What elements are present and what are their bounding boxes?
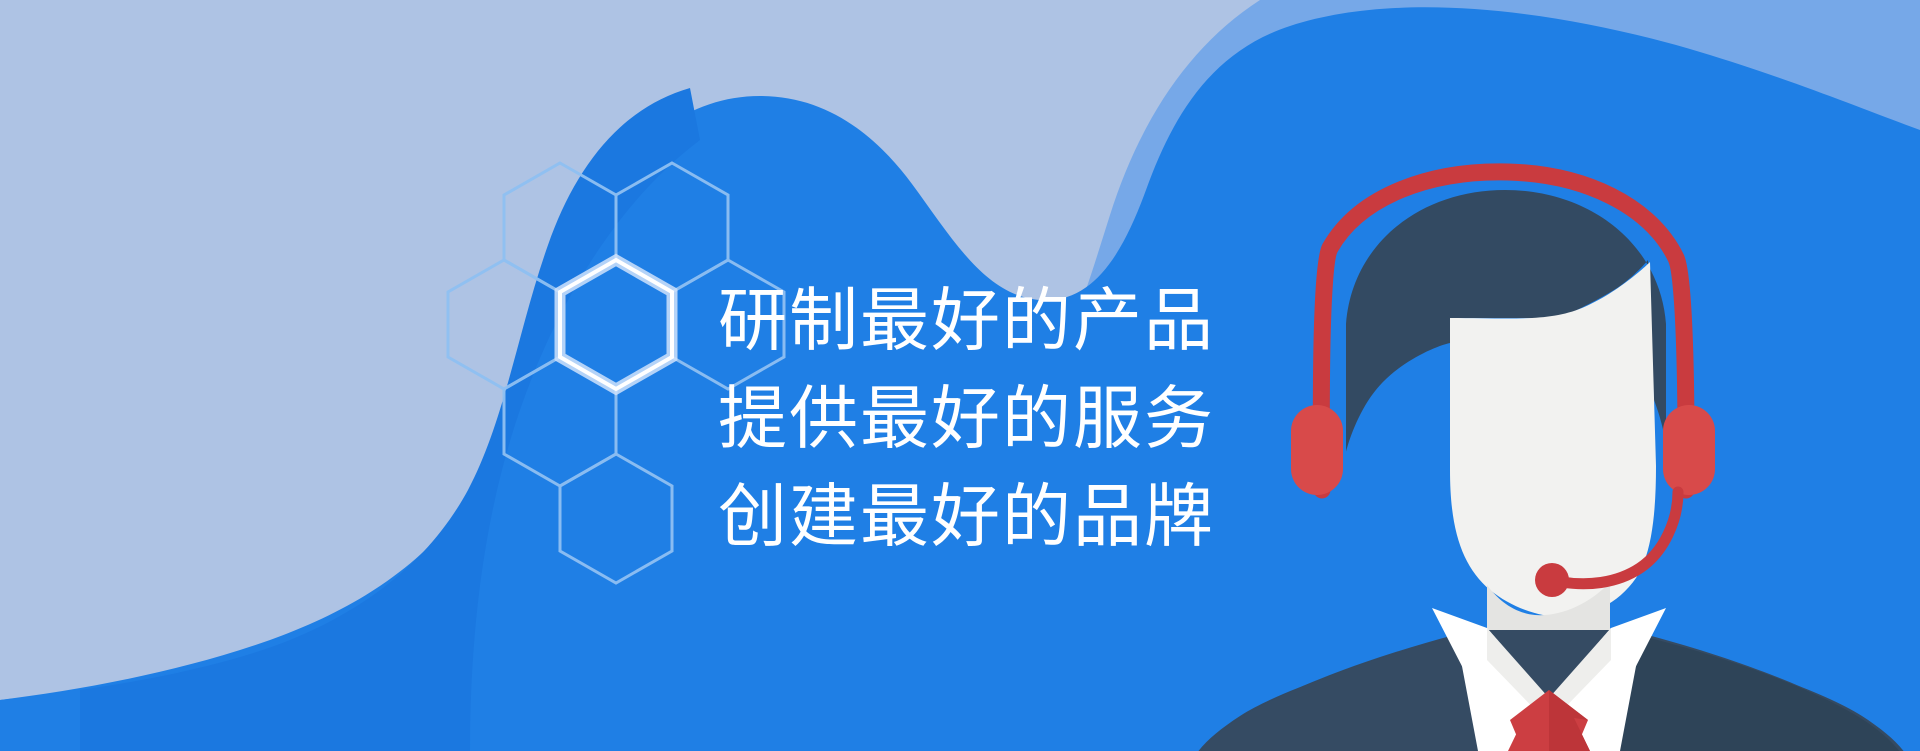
suit-shoulder-right xyxy=(1612,629,1918,751)
headset-earcup-right-icon xyxy=(1663,405,1715,495)
hero-banner: 研制最好的产品 提供最好的服务 创建最好的品牌 xyxy=(0,0,1920,751)
headline-line-2: 提供最好的服务 xyxy=(718,370,1215,468)
headline-line-1: 研制最好的产品 xyxy=(718,272,1215,370)
headline-block: 研制最好的产品 提供最好的服务 创建最好的品牌 xyxy=(718,272,1215,566)
headset-microphone-tip-icon xyxy=(1535,563,1569,597)
headline-line-3: 创建最好的品牌 xyxy=(718,468,1215,566)
suit-shoulder-left xyxy=(1182,629,1488,751)
headset-earcup-left-icon xyxy=(1291,405,1343,495)
